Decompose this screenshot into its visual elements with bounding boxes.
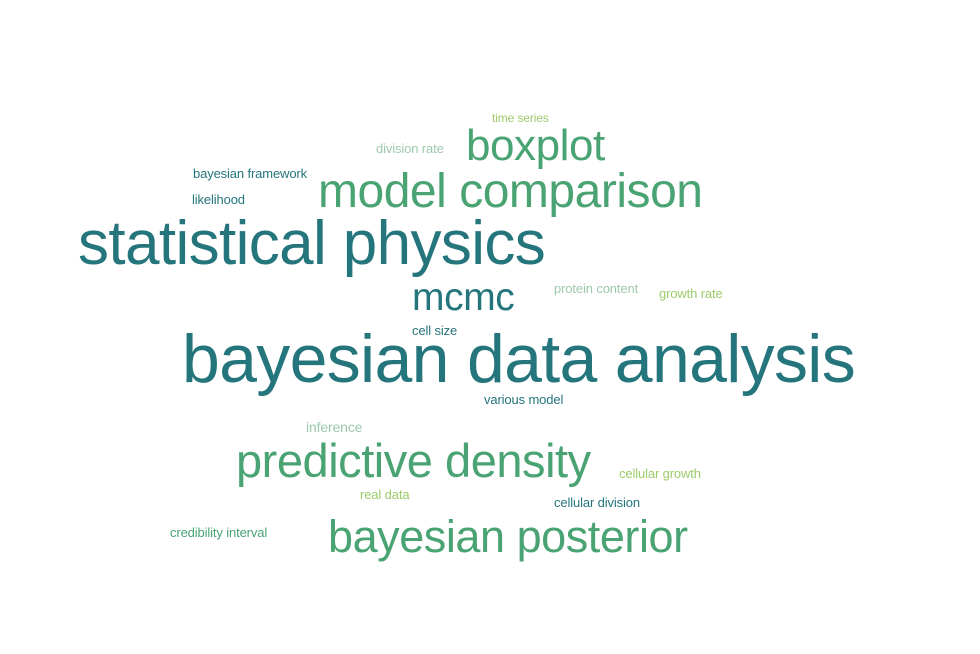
- word-cloud-term: inference: [306, 420, 362, 434]
- word-cloud-term: predictive density: [236, 437, 591, 484]
- word-cloud-term: mcmc: [412, 278, 514, 317]
- word-cloud-term: division rate: [376, 142, 444, 155]
- word-cloud-term: protein content: [554, 282, 638, 295]
- word-cloud-term: statistical physics: [78, 213, 545, 275]
- word-cloud-canvas: bayesian data analysisstatistical physic…: [0, 0, 980, 654]
- word-cloud-term: bayesian posterior: [328, 514, 688, 559]
- word-cloud-term: boxplot: [466, 124, 605, 168]
- word-cloud-term: bayesian framework: [193, 167, 307, 180]
- word-cloud-term: bayesian data analysis: [182, 325, 855, 393]
- word-cloud-term: likelihood: [192, 193, 245, 206]
- word-cloud-term: credibility interval: [170, 526, 267, 539]
- word-cloud-term: cell size: [412, 324, 457, 337]
- word-cloud-term: various model: [484, 393, 563, 406]
- word-cloud-term: real data: [360, 488, 409, 501]
- word-cloud-term: time series: [492, 112, 549, 124]
- word-cloud-term: cellular growth: [619, 467, 701, 480]
- word-cloud-term: growth rate: [659, 287, 723, 300]
- word-cloud-term: model comparison: [318, 168, 703, 216]
- word-cloud-term: cellular division: [554, 496, 640, 509]
